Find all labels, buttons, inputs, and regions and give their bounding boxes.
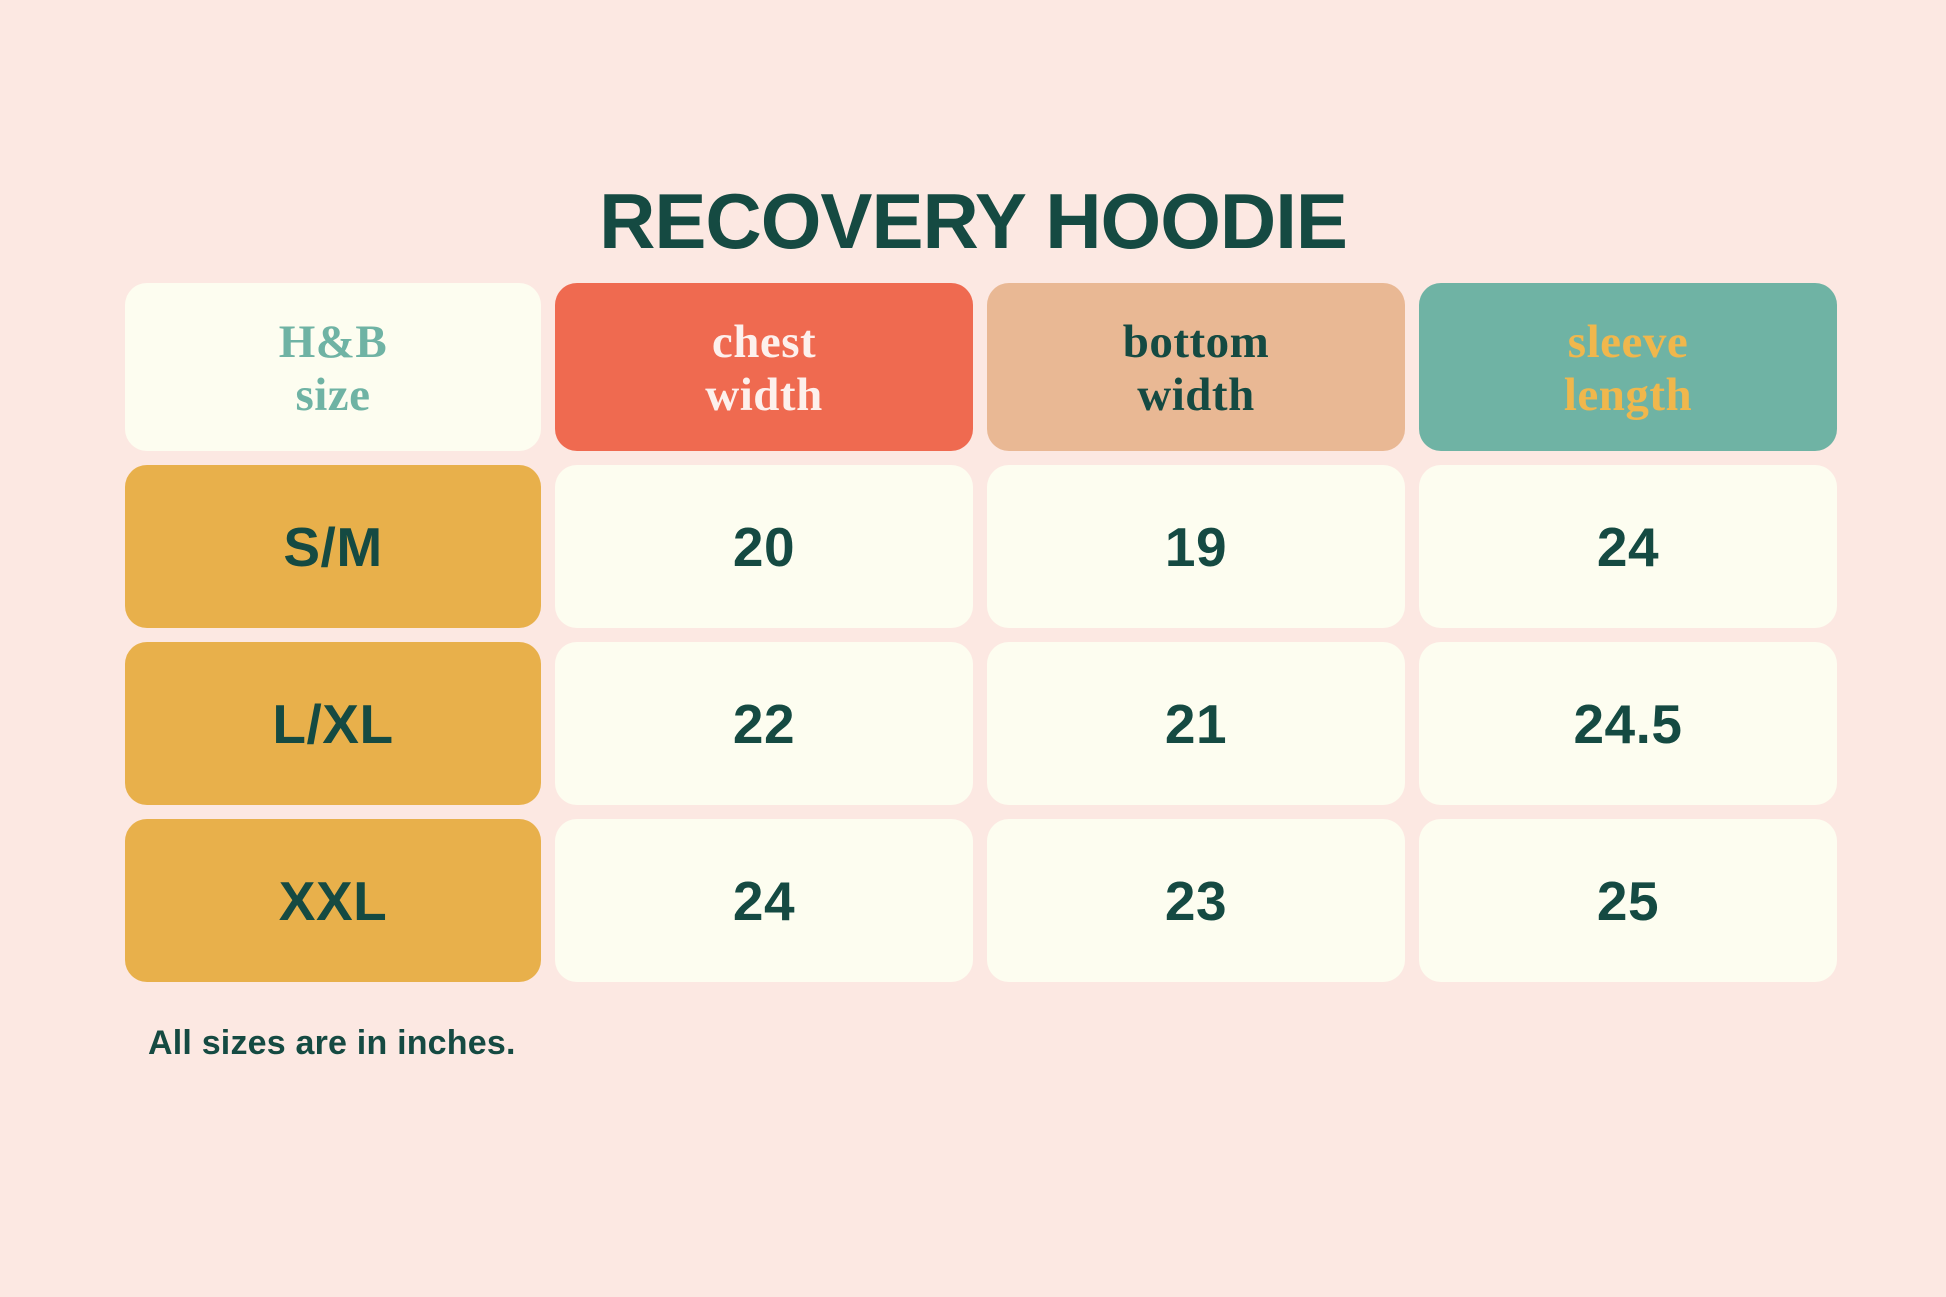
page-title: RECOVERY HOODIE — [0, 182, 1946, 260]
table-row: XXL 24 23 25 — [125, 819, 1837, 982]
header-bottom-width-line2: width — [1137, 369, 1254, 422]
size-label: XXL — [279, 869, 387, 933]
header-chest-width-line2: width — [705, 369, 822, 422]
chest-width-cell: 20 — [555, 465, 973, 628]
bottom-width-value: 23 — [1165, 869, 1227, 933]
chest-width-cell: 22 — [555, 642, 973, 805]
size-chart-table: H&B size chest width bottom width sleeve… — [125, 283, 1837, 982]
bottom-width-value: 21 — [1165, 692, 1227, 756]
size-chart-page: RECOVERY HOODIE H&B size chest width bot… — [0, 0, 1946, 1297]
size-label: S/M — [283, 515, 382, 579]
size-label: L/XL — [272, 692, 393, 756]
chest-width-cell: 24 — [555, 819, 973, 982]
header-sleeve-length-line2: length — [1564, 369, 1692, 422]
chest-width-value: 20 — [733, 515, 795, 579]
table-header-row: H&B size chest width bottom width sleeve… — [125, 283, 1837, 451]
bottom-width-cell: 23 — [987, 819, 1405, 982]
bottom-width-cell: 21 — [987, 642, 1405, 805]
sleeve-length-cell: 24 — [1419, 465, 1837, 628]
chest-width-value: 22 — [733, 692, 795, 756]
header-chest-width-line1: chest — [712, 316, 816, 369]
header-cell-sleeve-length: sleeve length — [1419, 283, 1837, 451]
sleeve-length-value: 24 — [1597, 515, 1659, 579]
footnote-text: All sizes are in inches. — [148, 1024, 516, 1063]
sleeve-length-cell: 25 — [1419, 819, 1837, 982]
table-row: S/M 20 19 24 — [125, 465, 1837, 628]
chest-width-value: 24 — [733, 869, 795, 933]
size-label-cell: XXL — [125, 819, 541, 982]
sleeve-length-value: 24.5 — [1573, 692, 1682, 756]
sleeve-length-cell: 24.5 — [1419, 642, 1837, 805]
header-hb-size-line2: size — [295, 369, 370, 422]
header-cell-bottom-width: bottom width — [987, 283, 1405, 451]
sleeve-length-value: 25 — [1597, 869, 1659, 933]
size-label-cell: S/M — [125, 465, 541, 628]
size-label-cell: L/XL — [125, 642, 541, 805]
header-sleeve-length-line1: sleeve — [1568, 316, 1688, 369]
header-hb-size-line1: H&B — [279, 316, 388, 369]
bottom-width-value: 19 — [1165, 515, 1227, 579]
table-row: L/XL 22 21 24.5 — [125, 642, 1837, 805]
header-cell-hb-size: H&B size — [125, 283, 541, 451]
header-bottom-width-line1: bottom — [1123, 316, 1270, 369]
bottom-width-cell: 19 — [987, 465, 1405, 628]
header-cell-chest-width: chest width — [555, 283, 973, 451]
